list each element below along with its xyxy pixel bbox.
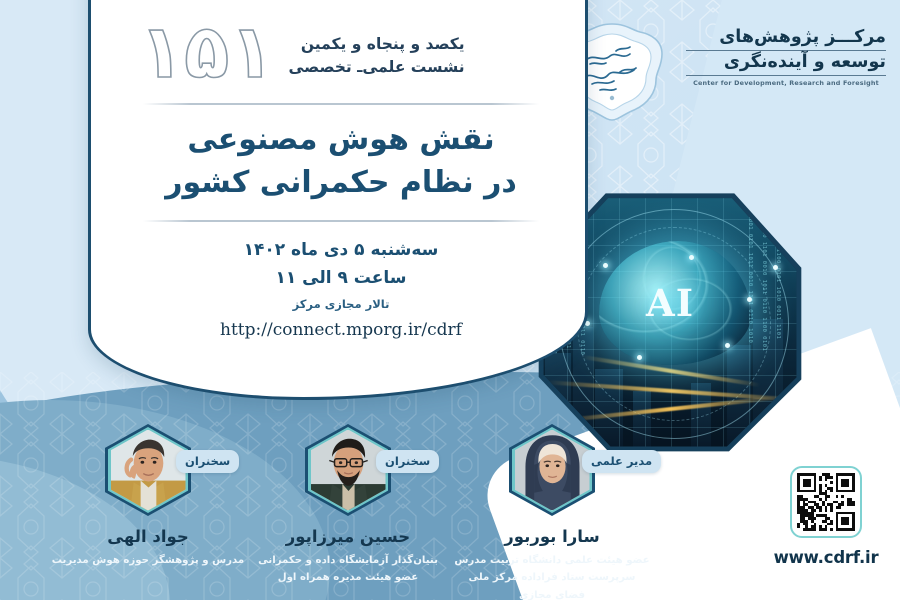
event-poster: مرکـــز پژوهش‌های توسعه و آینده‌نگری Cen… bbox=[0, 0, 900, 600]
main-content-panel: ۱۵۱ یکصد و پنجاه و یکمین نشست علمی‌ـ تخص… bbox=[88, 0, 588, 400]
session-label-line-2: نشست علمی‌ـ تخصصی bbox=[289, 56, 465, 79]
event-link[interactable]: http://connect.mporg.ir/cdrf bbox=[139, 317, 543, 344]
network-node bbox=[725, 343, 730, 348]
avatar bbox=[509, 424, 595, 516]
divider-top bbox=[143, 103, 539, 105]
poster-title: نقش هوش مصنوعی در نظام حکمرانی کشور bbox=[139, 119, 543, 204]
participant-name: جواد الهی bbox=[48, 527, 248, 546]
participant-role-badge: سخنران bbox=[176, 450, 239, 473]
participant-affiliation-line-2: عضو هیئت مدیره همراه اول bbox=[248, 569, 448, 586]
session-label-line-1: یکصد و پنجاه و یکمین bbox=[289, 33, 465, 56]
network-node bbox=[689, 255, 694, 260]
divider-bottom bbox=[143, 220, 539, 222]
participant-card: مدیر علمی سارا بوربور عضو هیئت علمی دانش… bbox=[452, 424, 652, 600]
poster-title-line-2: در نظام حکمرانی کشور bbox=[139, 162, 543, 205]
participant-role-badge: مدیر علمی bbox=[582, 450, 661, 473]
org-name-english: Center for Development, Research and For… bbox=[686, 76, 886, 87]
organization-logo: مرکـــز پژوهش‌های توسعه و آینده‌نگری Cen… bbox=[686, 26, 886, 102]
network-node bbox=[747, 297, 752, 302]
session-label: یکصد و پنجاه و یکمین نشست علمی‌ـ تخصصی bbox=[289, 33, 465, 80]
qr-code[interactable] bbox=[790, 466, 862, 538]
participant-affiliation-line-1: بنیان‌گذار آزمایشگاه داده و حکمرانی bbox=[248, 552, 448, 569]
participant-name: سارا بوربور bbox=[452, 527, 652, 546]
event-details: سه‌شنبه ۵ دی ماه ۱۴۰۲ ساعت ۹ الی ۱۱ تالا… bbox=[139, 236, 543, 344]
session-number-row: ۱۵۱ یکصد و پنجاه و یکمین نشست علمی‌ـ تخص… bbox=[139, 21, 543, 91]
participant-affiliation-line-1: مدرس و پژوهشگر حوزه هوش مدیریت bbox=[48, 552, 248, 569]
session-number: ۱۵۱ bbox=[139, 17, 275, 87]
poster-title-line-1: نقش هوش مصنوعی bbox=[139, 119, 543, 162]
network-node bbox=[773, 265, 778, 270]
participants-row: سخنران جواد الهی مدرس و پژوهشگر حوزه هوش… bbox=[0, 424, 900, 600]
network-node bbox=[603, 263, 608, 268]
participant-affiliation: مدرس و پژوهشگر حوزه هوش مدیریت bbox=[48, 552, 248, 569]
participant-affiliation-line-2: سرپرست ستاد فراداده مرکز ملی فضای مجازی bbox=[452, 569, 652, 600]
participant-affiliation: عضو هیئت علمی دانشگاه تربیت مدرس سرپرست … bbox=[452, 552, 652, 600]
qr-code-matrix bbox=[797, 473, 855, 531]
event-date: سه‌شنبه ۵ دی ماه ۱۴۰۲ bbox=[139, 236, 543, 265]
participant-name: حسین میرزاپور bbox=[248, 527, 448, 546]
event-venue: تالار مجازی مرکز bbox=[139, 292, 543, 317]
org-name-line-2: توسعه و آینده‌نگری bbox=[686, 51, 886, 76]
network-node bbox=[637, 355, 642, 360]
participant-card: سخنران جواد الهی مدرس و پژوهشگر حوزه هوش… bbox=[48, 424, 248, 569]
participant-card: سخنران حسین میرزاپور بنیان‌گذار آزمایشگا… bbox=[248, 424, 448, 587]
event-time: ساعت ۹ الی ۱۱ bbox=[139, 265, 543, 291]
org-name-line-1: مرکـــز پژوهش‌های bbox=[686, 26, 886, 51]
participant-affiliation-line-1: عضو هیئت علمی دانشگاه تربیت مدرس bbox=[452, 552, 652, 569]
website-url[interactable]: www.cdrf.ir bbox=[770, 548, 882, 567]
participant-affiliation: بنیان‌گذار آزمایشگاه داده و حکمرانی عضو … bbox=[248, 552, 448, 587]
participant-role-badge: سخنران bbox=[376, 450, 439, 473]
